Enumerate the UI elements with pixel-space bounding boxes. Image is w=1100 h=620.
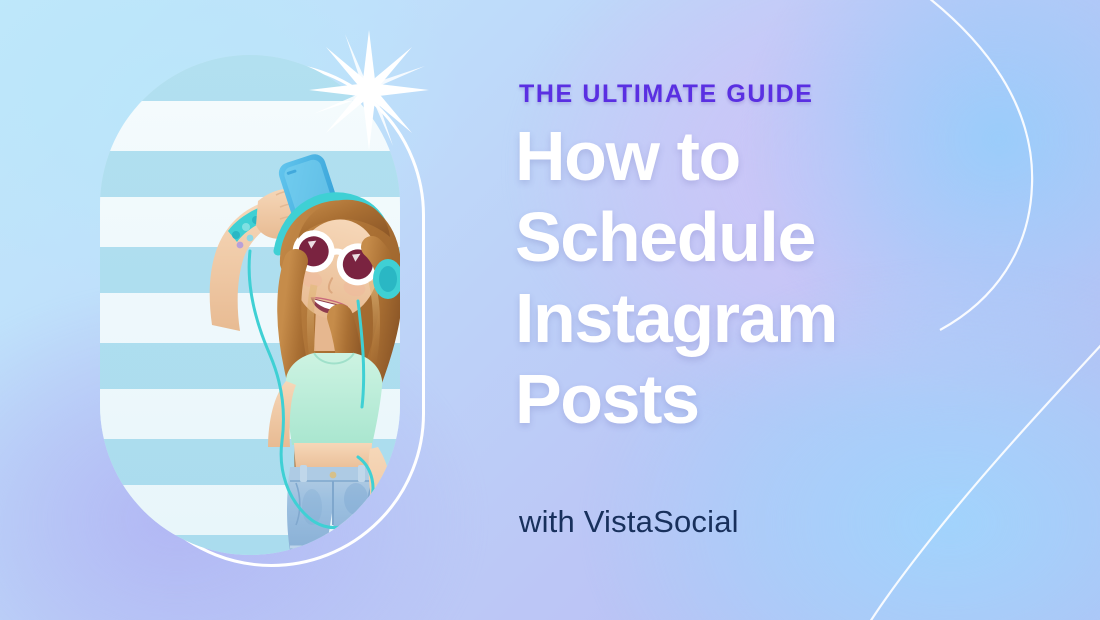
headline-line-1: How to <box>515 116 837 197</box>
eyebrow-label: THE ULTIMATE GUIDE <box>519 80 814 109</box>
headline-line-2: Schedule <box>515 197 837 278</box>
page-title: How to Schedule Instagram Posts <box>515 116 837 440</box>
crop-top <box>286 353 382 445</box>
photo-subject <box>100 55 400 555</box>
text-column: THE ULTIMATE GUIDE How to Schedule Insta… <box>519 0 949 620</box>
headline-line-3: Instagram <box>515 278 837 359</box>
brand-subtitle: with VistaSocial <box>519 504 739 540</box>
hero-photo <box>100 55 400 555</box>
banner-canvas: THE ULTIMATE GUIDE How to Schedule Insta… <box>0 0 1100 620</box>
photo-pill-mask <box>100 55 400 555</box>
left-leg <box>292 549 334 555</box>
headline-line-4: Posts <box>515 359 837 440</box>
